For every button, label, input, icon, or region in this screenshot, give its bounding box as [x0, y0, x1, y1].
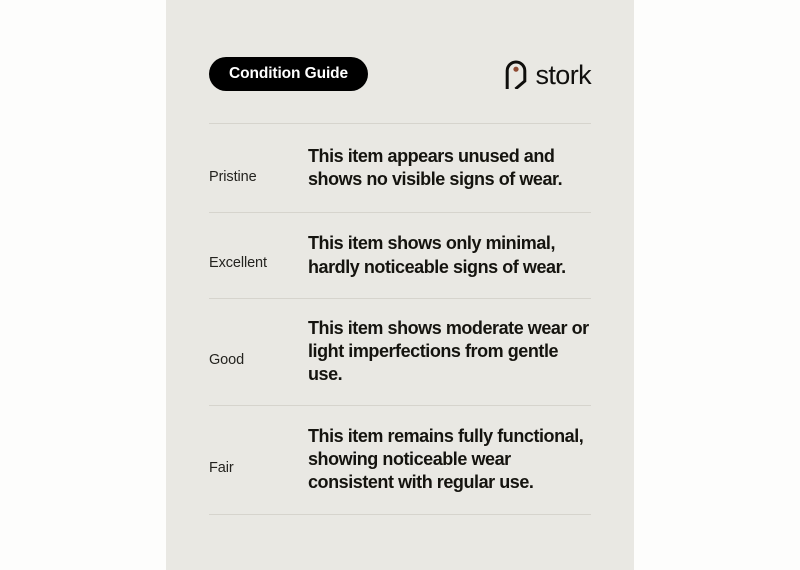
condition-description: This item shows only minimal, hardly not…: [308, 232, 591, 278]
table-row: Excellent This item shows only minimal, …: [209, 213, 591, 297]
table-row: Pristine This item appears unused and sh…: [209, 124, 591, 212]
condition-description: This item appears unused and shows no vi…: [308, 145, 591, 191]
condition-label: Excellent: [209, 255, 308, 272]
condition-guide-badge: Condition Guide: [209, 57, 368, 91]
brand-wordmark: stork: [535, 62, 591, 89]
table-divider-bottom: [209, 514, 591, 515]
condition-label: Pristine: [209, 169, 308, 186]
condition-table: Pristine This item appears unused and sh…: [209, 123, 591, 515]
card-header: Condition Guide stork: [209, 57, 591, 91]
table-row: Good This item shows moderate wear or li…: [209, 299, 591, 405]
condition-label: Fair: [209, 460, 308, 477]
table-row: Fair This item remains fully functional,…: [209, 406, 591, 515]
page-root: Condition Guide stork Pristine This item…: [0, 0, 800, 570]
brand-logo: stork: [504, 55, 591, 93]
condition-guide-card: Condition Guide stork Pristine This item…: [166, 0, 634, 570]
condition-description: This item remains fully functional, show…: [308, 425, 591, 495]
condition-label: Good: [209, 352, 308, 369]
condition-description: This item shows moderate wear or light i…: [308, 317, 591, 387]
stork-arch-icon: [504, 59, 528, 89]
